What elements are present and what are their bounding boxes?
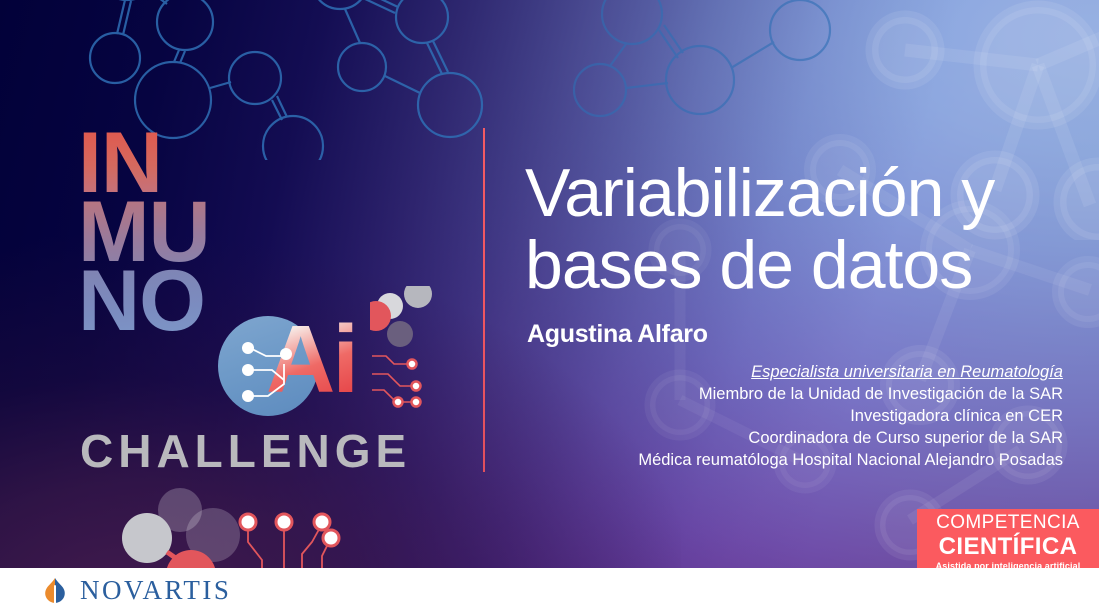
- credential-line: Investigadora clínica en CER: [503, 406, 1063, 428]
- credential-line: Coordinadora de Curso superior de la SAR: [503, 428, 1063, 450]
- logo-wordmark: IN MU NO: [78, 130, 408, 335]
- logo-challenge-text: CHALLENGE: [80, 424, 411, 478]
- novartis-logo: NOVARTIS: [42, 575, 231, 606]
- credential-line: Médica reumatóloga Hospital Nacional Ale…: [503, 450, 1063, 472]
- inmuno-ai-challenge-logo: IN MU NO Ai: [78, 130, 408, 480]
- novartis-flame-icon: [42, 577, 68, 605]
- badge-line-cientifica: CIENTÍFICA: [917, 534, 1099, 560]
- presentation-slide: IN MU NO Ai: [0, 0, 1099, 613]
- slide-footer: NOVARTIS: [0, 568, 1099, 613]
- speaker-name: Agustina Alfaro: [527, 320, 708, 349]
- badge-line-competencia: COMPETENCIA: [917, 512, 1099, 534]
- circuit-traces-icon: [232, 334, 324, 410]
- circuit-dots-icon: [370, 286, 448, 426]
- scientific-competition-badge: COMPETENCIA CIENTÍFICA Asistida por inte…: [917, 509, 1099, 568]
- speaker-credentials: Especialista universitaria en Reumatolog…: [503, 362, 1063, 472]
- credential-line: Especialista universitaria en Reumatolog…: [503, 362, 1063, 384]
- novartis-wordmark: NOVARTIS: [80, 575, 231, 606]
- vertical-divider: [483, 128, 485, 472]
- logo-ai-group: Ai: [218, 312, 408, 420]
- slide-title: Variabilización y bases de datos: [525, 157, 1045, 301]
- credential-line: Miembro de la Unidad de Investigación de…: [503, 384, 1063, 406]
